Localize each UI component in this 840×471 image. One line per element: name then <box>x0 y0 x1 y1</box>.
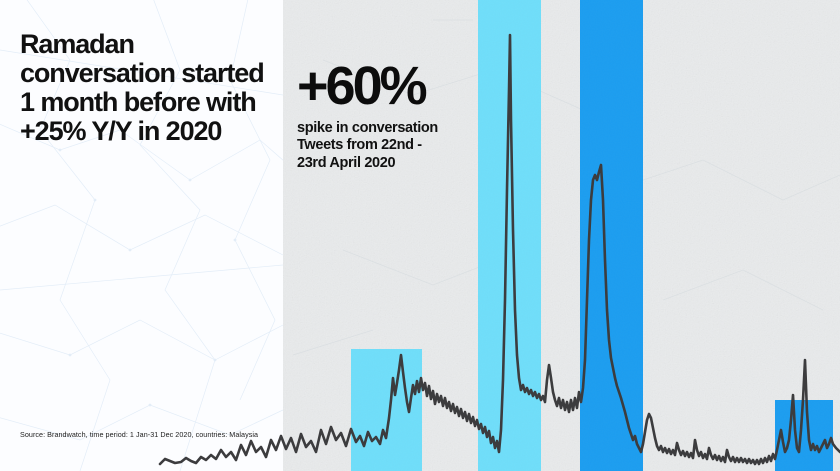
page-title-text: Ramadan conversation started 1 month bef… <box>20 30 270 146</box>
stat-value: +60% <box>297 62 512 112</box>
source-note: Source: Brandwatch, time period: 1 Jan-3… <box>20 430 258 439</box>
stat-callout: +60% spike in conversation Tweets from 2… <box>297 62 512 173</box>
band-grain-icon <box>351 349 422 471</box>
highlight-band-pre-ramadan-buildup <box>351 349 422 471</box>
infographic-slide: Ramadan conversation started 1 month bef… <box>0 0 840 471</box>
band-grain-icon <box>775 400 833 471</box>
stat-description: spike in conversation Tweets from 22nd -… <box>297 120 512 173</box>
highlight-band-year-end-spike <box>775 400 833 471</box>
band-grain-icon <box>580 0 643 471</box>
highlight-band-eid-spike <box>580 0 643 471</box>
page-title: Ramadan conversation started 1 month bef… <box>20 30 270 146</box>
